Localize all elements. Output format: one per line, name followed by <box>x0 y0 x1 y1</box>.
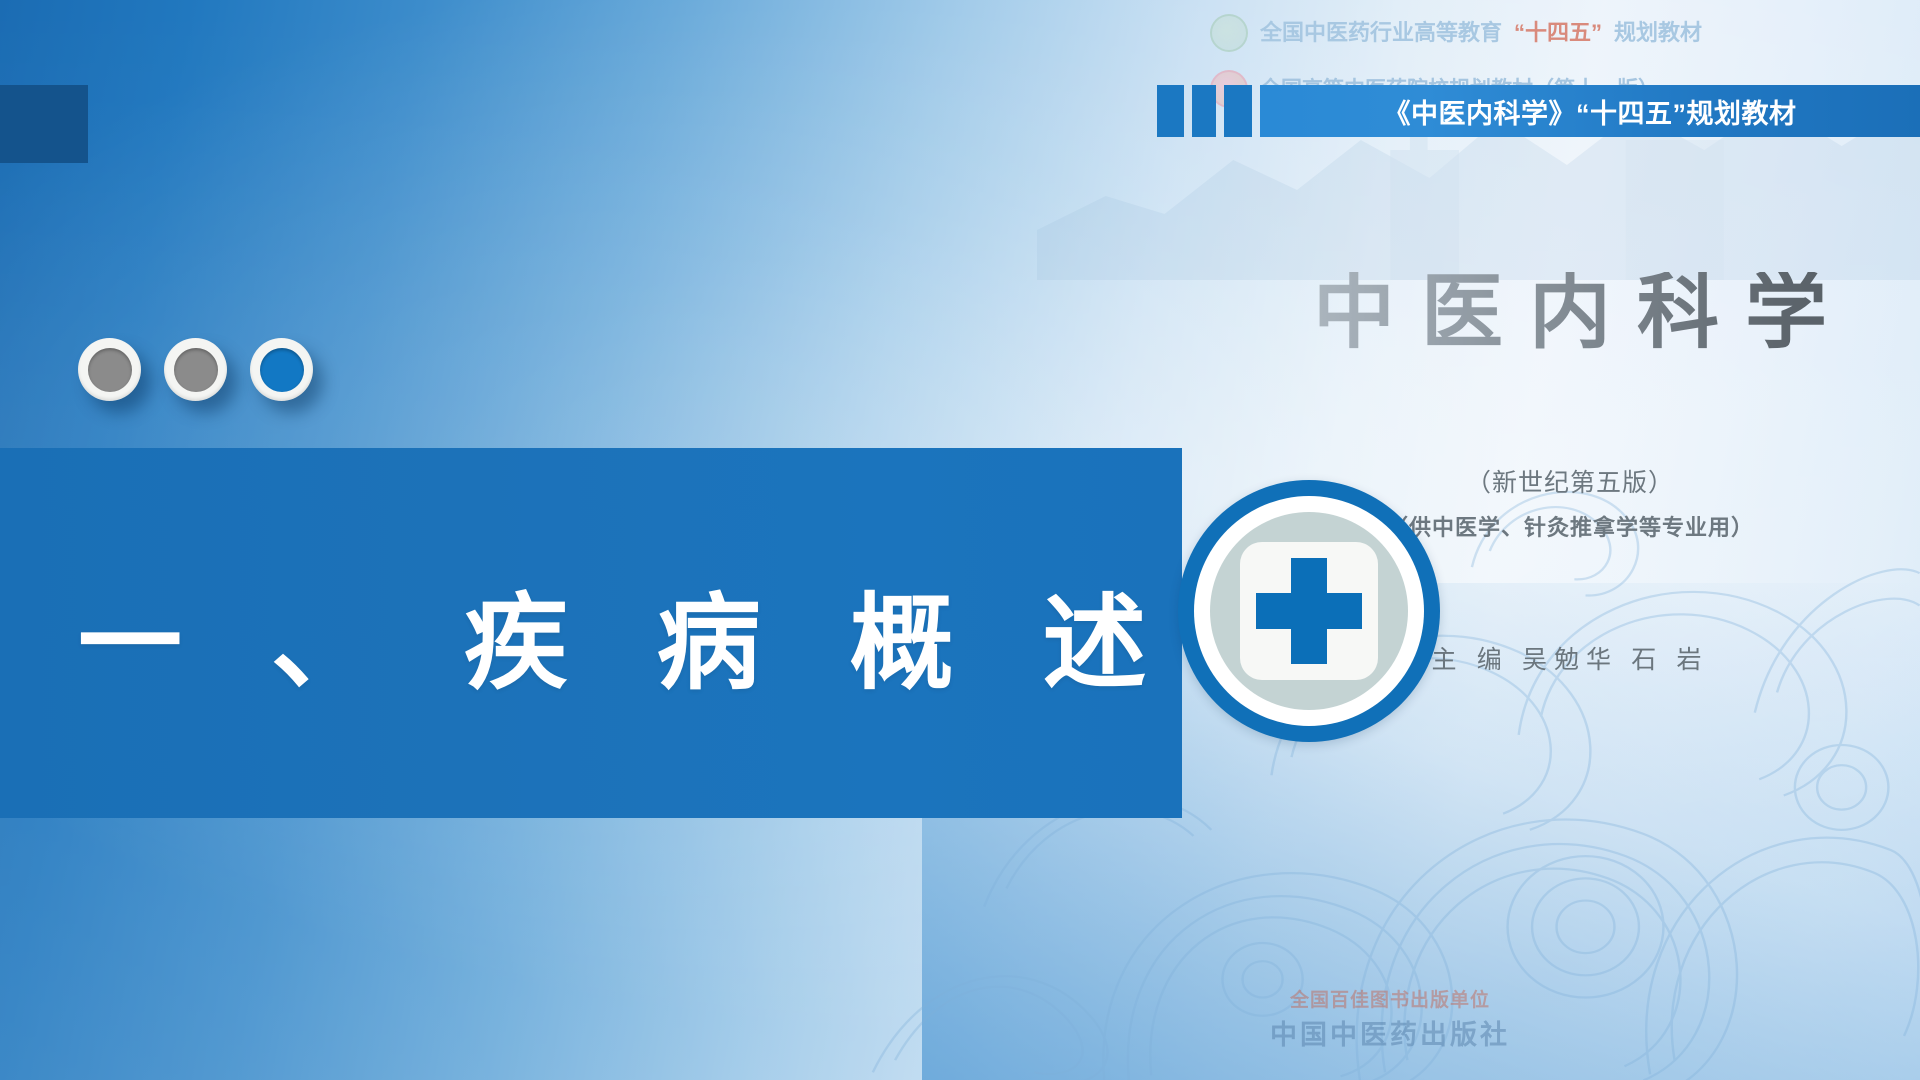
publisher-name: 中国中医药出版社 <box>1180 1013 1600 1052</box>
emblem-cross-plate <box>1240 542 1378 680</box>
book-cover-title: 中医内科学 <box>1225 272 1915 354</box>
corner-accent-square <box>0 85 88 163</box>
banner-tick-1 <box>1157 85 1184 137</box>
banner-tick-3 <box>1224 85 1252 137</box>
medical-cross-icon <box>1178 480 1440 742</box>
slide-canvas: 全国中医药行业高等教育 “十四五” 规划教材 全国高等中医药院校规划教材（第十一… <box>0 0 1920 1080</box>
header-banner: 《中医内科学》“十四五”规划教材 <box>1157 85 1920 137</box>
step-indicator-dots <box>78 338 313 401</box>
dot-3[interactable] <box>250 338 313 401</box>
masthead-highlight-1: “十四五” <box>1514 22 1602 44</box>
banner-tick-2 <box>1192 85 1216 137</box>
publisher-honor-label: 全国百佳图书出版单位 <box>1180 985 1600 1012</box>
emblem-white-ring <box>1194 496 1424 726</box>
page-title: 一 、 疾 病 概 述 <box>78 448 1138 818</box>
tcm-seal-icon <box>1210 14 1248 52</box>
banner-title: 《中医内科学》“十四五”规划教材 <box>1260 85 1920 137</box>
cover-masthead-line-1: 全国中医药行业高等教育 “十四五” 规划教材 <box>1210 14 1910 52</box>
emblem-inner-disc <box>1210 512 1408 710</box>
masthead-prefix-1: 全国中医药行业高等教育 <box>1260 22 1502 44</box>
masthead-suffix-1: 规划教材 <box>1614 22 1702 44</box>
dot-1[interactable] <box>78 338 141 401</box>
dot-2[interactable] <box>164 338 227 401</box>
